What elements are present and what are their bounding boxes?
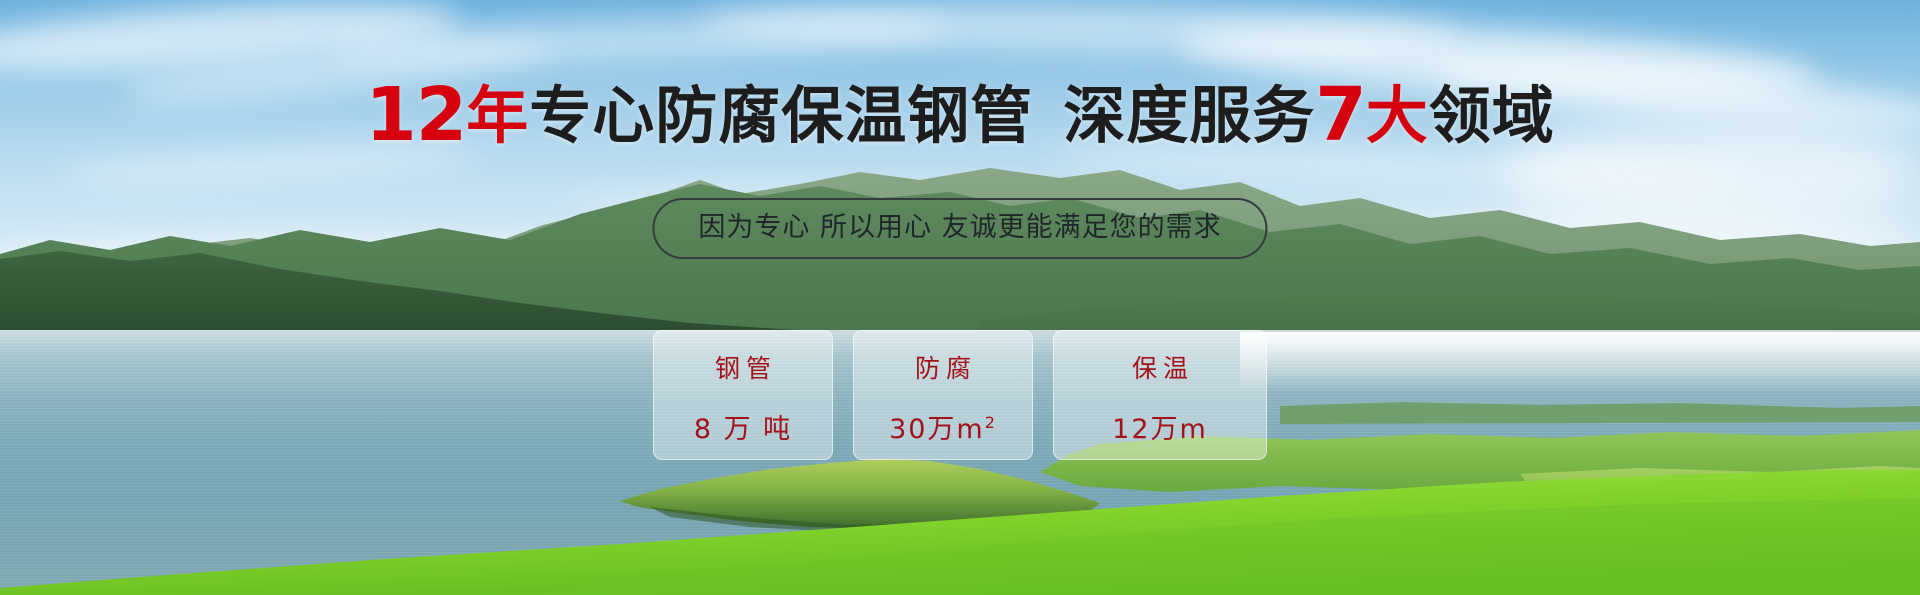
stat-card-label: 防腐 (909, 349, 977, 385)
stat-card-insulation: 保温 12万m (1053, 330, 1267, 460)
stat-card-anticorrosion: 防腐 30万m2 (853, 330, 1033, 460)
headline-fields-unit: 大 (1366, 79, 1429, 152)
headline-main-text: 专心防腐保温钢管 (529, 79, 1033, 152)
subtitle-pill: 因为专心 所以用心 友诚更能满足您的需求 (652, 198, 1267, 259)
stat-card-value-superscript: 2 (985, 413, 997, 432)
stat-card-value-main: 8 万 吨 (694, 414, 792, 445)
stat-card-value-main: 12万m (1112, 414, 1208, 445)
headline-fields-text: 领域 (1429, 79, 1555, 152)
stat-card-value-main: 30万m (889, 414, 985, 445)
stat-card-value: 30万m2 (889, 407, 997, 446)
stat-card-label: 保温 (1126, 349, 1194, 385)
stat-card-steel-pipe: 钢管 8 万 吨 (653, 330, 833, 460)
headline-fields-number: 7 (1315, 72, 1366, 158)
stat-card-value: 12万m (1112, 407, 1208, 446)
promo-banner: 12年专心防腐保温钢管深度服务7大领域 因为专心 所以用心 友诚更能满足您的需求… (0, 0, 1920, 595)
stat-card-value: 8 万 吨 (694, 407, 792, 446)
banner-content: 12年专心防腐保温钢管深度服务7大领域 因为专心 所以用心 友诚更能满足您的需求… (0, 0, 1920, 595)
headline-service-text: 深度服务 (1063, 79, 1315, 152)
stat-cards: 钢管 8 万 吨 防腐 30万m2 保温 12万m (653, 330, 1267, 460)
headline-years-unit: 年 (466, 79, 529, 152)
headline-years-number: 12 (365, 72, 466, 158)
stat-card-label: 钢管 (709, 349, 777, 385)
headline: 12年专心防腐保温钢管深度服务7大领域 (0, 78, 1920, 152)
